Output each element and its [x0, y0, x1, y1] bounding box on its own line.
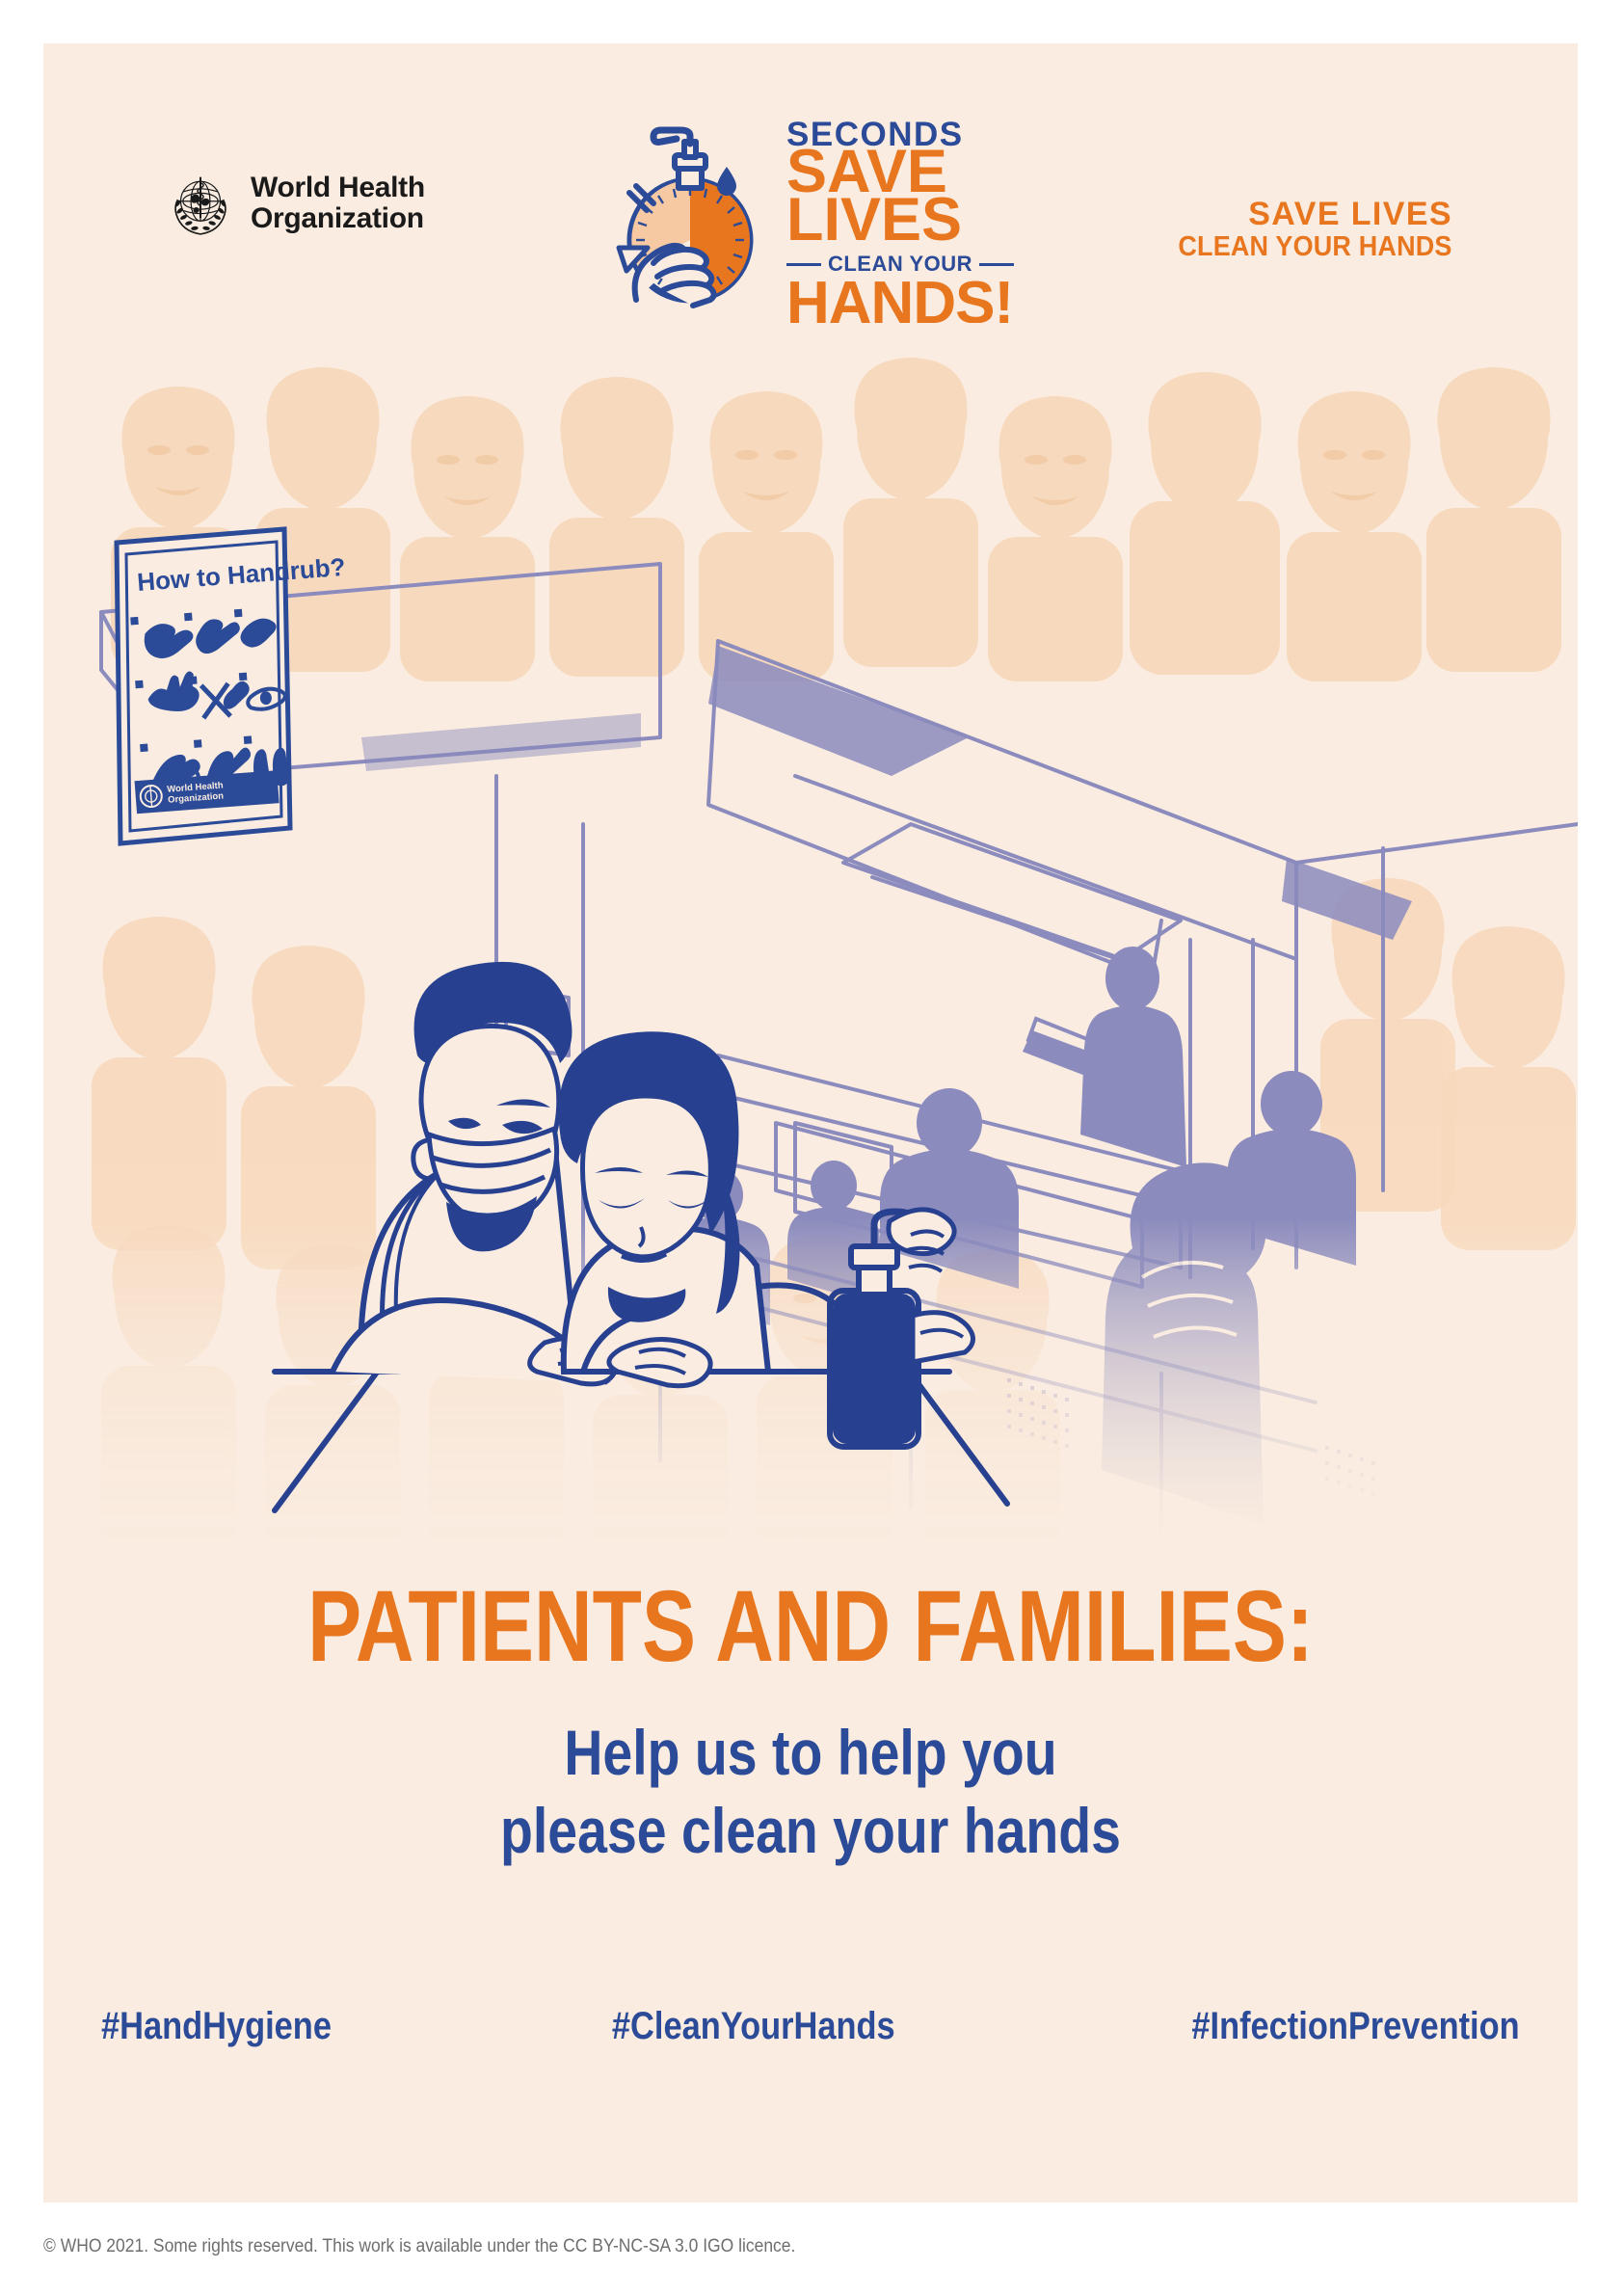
hashtag-row: #HandHygiene #CleanYourHands #InfectionP… [101, 2005, 1520, 2048]
tagline-line-2: CLEAN YOUR HANDS [1179, 232, 1452, 263]
stopwatch-soap-dispenser-hands-icon [598, 120, 777, 309]
who-wordmark: World Health Organization [251, 173, 425, 234]
hashtag-infection-prevention[interactable]: #InfectionPrevention [1192, 2005, 1520, 2048]
campaign-logo-text: SECONDS SAVE LIVES CLEAN YOUR HANDS! [786, 120, 1014, 330]
main-illustration: How to Handrub? [43, 323, 1578, 1566]
poster-header: World Health Organization [43, 43, 1578, 361]
subtitle-line-2: please clean your hands [166, 1792, 1454, 1870]
who-emblem-icon [164, 167, 237, 240]
poster-panel: World Health Organization [43, 43, 1578, 2203]
page-title: PATIENTS AND FAMILIES: [197, 1576, 1424, 1677]
hashtag-hand-hygiene[interactable]: #HandHygiene [101, 2005, 332, 2048]
subtitle-line-1: Help us to help you [166, 1714, 1454, 1792]
rule-left [786, 263, 821, 266]
subtitle: Help us to help you please clean your ha… [166, 1714, 1454, 1869]
headline-block: PATIENTS AND FAMILIES: Help us to help y… [43, 1576, 1578, 1869]
tagline: SAVE LIVES CLEAN YOUR HANDS [1158, 198, 1452, 263]
copyright-notice: © WHO 2021. Some rights reserved. This w… [43, 2236, 795, 2257]
hashtag-clean-your-hands[interactable]: #CleanYourHands [612, 2005, 895, 2048]
illustration-svg: How to Handrub? [43, 323, 1578, 1566]
who-logo: World Health Organization [164, 167, 425, 240]
campaign-logo: SECONDS SAVE LIVES CLEAN YOUR HANDS! [598, 113, 1012, 315]
rule-right [979, 263, 1014, 266]
campaign-line-hands: HANDS! [786, 278, 1014, 329]
tagline-line-1: SAVE LIVES [1158, 198, 1452, 232]
campaign-line-lives: LIVES [786, 194, 1014, 246]
